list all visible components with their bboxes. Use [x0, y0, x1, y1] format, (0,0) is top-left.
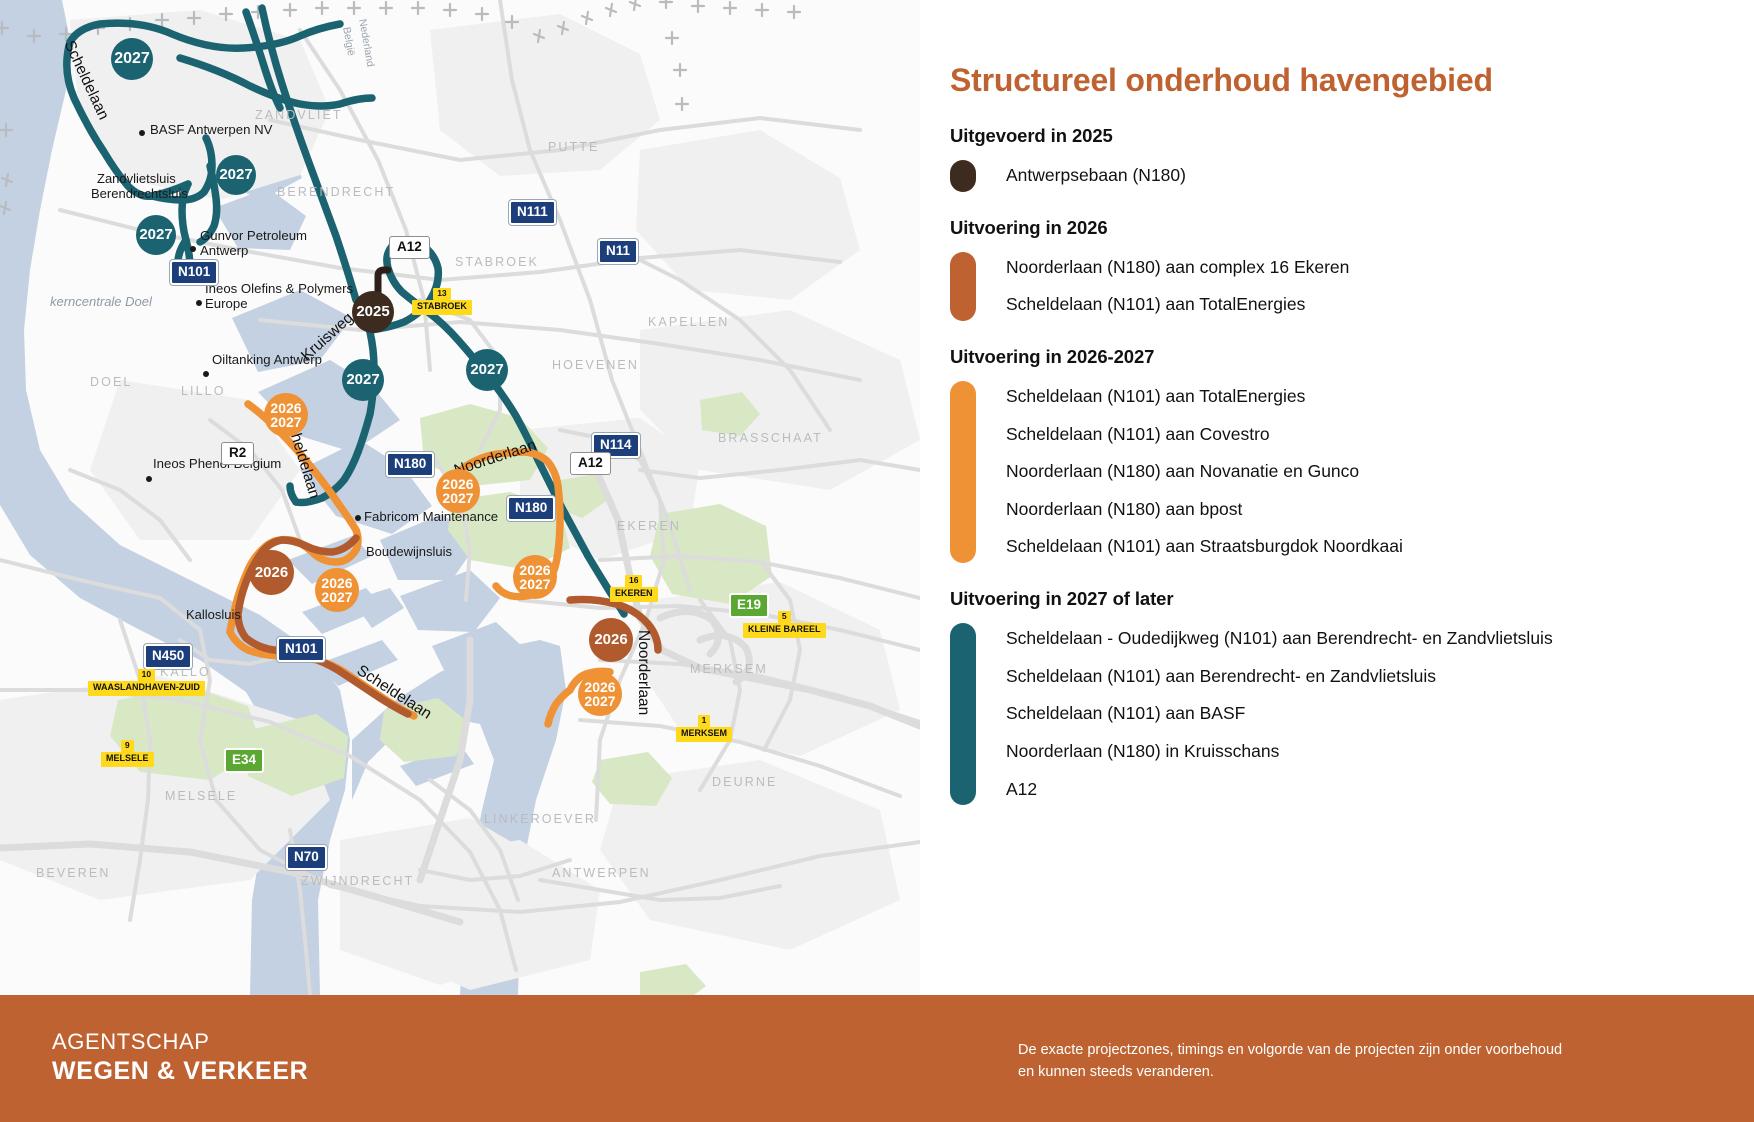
legend-item[interactable]: Scheldelaan (N101) aan BASF: [1006, 695, 1553, 733]
exit-name: MERKSEM: [676, 727, 732, 742]
map-year-marker-line: 2027: [584, 694, 615, 708]
legend-title: Structureel onderhoud havengebied: [950, 62, 1754, 99]
exit-name: EKEREN: [610, 587, 658, 602]
legend-item-list: Scheldelaan (N101) aan TotalEnergiesSche…: [976, 378, 1403, 566]
map-year-marker[interactable]: 20262027: [315, 568, 359, 612]
legend-item[interactable]: Scheldelaan (N101) aan TotalEnergies: [1006, 378, 1403, 416]
legend-group-heading: Uitvoering in 2027 of later: [950, 588, 1754, 610]
disclaimer-line-2: en kunnen steeds veranderen.: [1018, 1061, 1562, 1083]
footer-bar: AGENTSCHAP WEGEN & VERKEER De exacte pro…: [0, 995, 1754, 1122]
legend-item[interactable]: Noorderlaan (N180) in Kruisschans: [1006, 733, 1553, 771]
map-year-marker[interactable]: 20262027: [513, 555, 557, 599]
legend-item[interactable]: A12: [1006, 771, 1553, 809]
map-year-marker[interactable]: 2026: [249, 550, 294, 595]
map-year-marker[interactable]: 2026: [589, 618, 633, 662]
map-year-marker-line: 2027: [470, 362, 503, 377]
legend-item-list: Noorderlaan (N180) aan complex 16 Ekeren…: [976, 249, 1349, 324]
map-year-marker[interactable]: 20262027: [436, 469, 480, 513]
map-year-marker-line: 2026: [442, 477, 473, 491]
legend-item[interactable]: Noorderlaan (N180) aan bpost: [1006, 491, 1403, 529]
road-shield-a12: A12: [389, 236, 430, 259]
road-shield-n70: N70: [286, 845, 327, 870]
legend-item[interactable]: Scheldelaan - Oudedijkweg (N101) aan Ber…: [1006, 620, 1553, 658]
logo-line-1: AGENTSCHAP: [52, 1028, 308, 1056]
motorway-exit-badge: 9MELSELE: [101, 735, 154, 767]
road-shield-e34: E34: [224, 748, 264, 773]
motorway-exit-badge: 5KLEINE BAREEL: [743, 606, 826, 638]
logo-line-2: WEGEN & VERKEER: [52, 1056, 308, 1087]
map-year-marker-line: 2027: [270, 415, 301, 429]
exit-name: MELSELE: [101, 752, 154, 767]
map-year-marker-line: 2027: [114, 51, 150, 67]
motorway-exit-badge: 10WAASLANDHAVEN-ZUID: [88, 664, 205, 696]
legend-item[interactable]: Scheldelaan (N101) aan TotalEnergies: [1006, 286, 1349, 324]
legend-item[interactable]: Noorderlaan (N180) aan complex 16 Ekeren: [1006, 249, 1349, 287]
exit-name: WAASLANDHAVEN-ZUID: [88, 681, 205, 696]
map-year-marker-line: 2025: [356, 304, 389, 319]
map-year-marker[interactable]: 2027: [342, 359, 384, 401]
legend-item-list: Antwerpsebaan (N180): [976, 157, 1186, 195]
exit-number: 9: [121, 740, 134, 752]
motorway-exit-badge: 13STABROEK: [412, 283, 472, 315]
road-shield-n101: N101: [170, 260, 218, 285]
disclaimer-text: De exacte projectzones, timings en volgo…: [1018, 1039, 1562, 1084]
motorway-exit-badge: 16EKEREN: [610, 570, 658, 602]
map-poi-dot-icon: [139, 130, 145, 136]
road-shield-r2: R2: [221, 442, 254, 465]
road-shield-n180: N180: [386, 452, 434, 477]
map-year-marker-line: 2026: [594, 632, 627, 647]
legend-color-swatch: [950, 623, 976, 805]
exit-number: 10: [138, 669, 155, 681]
road-shield-n180: N180: [507, 496, 555, 521]
legend-group: Uitvoering in 2027 of laterScheldelaan -…: [950, 588, 1754, 808]
legend-group-body: Scheldelaan (N101) aan TotalEnergiesSche…: [950, 378, 1754, 566]
legend-group: Uitvoering in 2026Noorderlaan (N180) aan…: [950, 217, 1754, 324]
map-year-marker-line: 2026: [255, 565, 288, 580]
exit-name: KLEINE BAREEL: [743, 623, 826, 638]
exit-number: 5: [778, 611, 791, 623]
legend-groups: Uitgevoerd in 2025Antwerpsebaan (N180)Ui…: [950, 125, 1754, 808]
map-year-marker[interactable]: 20262027: [264, 393, 308, 437]
disclaimer-line-1: De exacte projectzones, timings en volgo…: [1018, 1039, 1562, 1061]
map-poi-dot-icon: [146, 476, 152, 482]
map-street-label: Noorderlaan: [634, 630, 652, 715]
legend-group-body: Scheldelaan - Oudedijkweg (N101) aan Ber…: [950, 620, 1754, 808]
legend-group: Uitvoering in 2026-2027Scheldelaan (N101…: [950, 346, 1754, 566]
map-year-marker-line: 2027: [321, 590, 352, 604]
map-year-marker-line: 2026: [270, 401, 301, 415]
map-year-marker[interactable]: 2025: [352, 291, 394, 333]
map-poi-dot-icon: [190, 246, 196, 252]
map-year-marker-line: 2027: [219, 167, 252, 182]
legend-item[interactable]: Scheldelaan (N101) aan Berendrecht- en Z…: [1006, 658, 1553, 696]
legend-group: Uitgevoerd in 2025Antwerpsebaan (N180): [950, 125, 1754, 195]
exit-name: STABROEK: [412, 300, 472, 315]
map-year-marker-line: 2026: [584, 680, 615, 694]
road-shield-n11: N11: [598, 239, 638, 264]
legend-panel: Structureel onderhoud havengebied Uitgev…: [920, 0, 1754, 995]
legend-item[interactable]: Antwerpsebaan (N180): [1006, 157, 1186, 195]
legend-group-heading: Uitgevoerd in 2025: [950, 125, 1754, 147]
agency-logo: AGENTSCHAP WEGEN & VERKEER: [52, 1028, 308, 1087]
legend-item-list: Scheldelaan - Oudedijkweg (N101) aan Ber…: [976, 620, 1553, 808]
legend-group-heading: Uitvoering in 2026-2027: [950, 346, 1754, 368]
map-year-marker-line: 2026: [519, 563, 550, 577]
exit-number: 13: [433, 288, 450, 300]
road-shield-n101: N101: [277, 637, 325, 662]
legend-color-swatch: [950, 381, 976, 563]
exit-number: 16: [625, 575, 642, 587]
map-year-marker[interactable]: 2027: [111, 38, 153, 80]
map-panel[interactable]: ZANDVLIETPUTTEBERENDRECHTSTABROEKKAPELLE…: [0, 0, 920, 995]
map-poi-dot-icon: [196, 300, 202, 306]
map-year-marker-line: 2026: [321, 576, 352, 590]
map-year-marker-line: 2027: [139, 227, 172, 242]
map-poi-dot-icon: [355, 515, 361, 521]
map-year-marker[interactable]: 2027: [216, 155, 256, 195]
motorway-exit-badge: 1MERKSEM: [676, 710, 732, 742]
legend-item[interactable]: Noorderlaan (N180) aan Novanatie en Gunc…: [1006, 453, 1403, 491]
map-year-marker[interactable]: 2027: [466, 349, 508, 391]
map-year-marker[interactable]: 2027: [136, 215, 176, 255]
map-year-marker-line: 2027: [442, 491, 473, 505]
legend-color-swatch: [950, 160, 976, 192]
legend-group-heading: Uitvoering in 2026: [950, 217, 1754, 239]
map-year-marker-line: 2027: [519, 577, 550, 591]
infographic-root: ZANDVLIETPUTTEBERENDRECHTSTABROEKKAPELLE…: [0, 0, 1754, 1122]
map-poi-dot-icon: [203, 371, 209, 377]
road-shield-n111: N111: [509, 200, 556, 225]
legend-group-body: Antwerpsebaan (N180): [950, 157, 1754, 195]
legend-color-swatch: [950, 252, 976, 321]
exit-number: 1: [698, 715, 711, 727]
map-year-marker-line: 2027: [346, 372, 379, 387]
legend-item[interactable]: Scheldelaan (N101) aan Straatsburgdok No…: [1006, 528, 1403, 566]
map-year-marker[interactable]: 20262027: [578, 672, 622, 716]
legend-group-body: Noorderlaan (N180) aan complex 16 Ekeren…: [950, 249, 1754, 324]
legend-item[interactable]: Scheldelaan (N101) aan Covestro: [1006, 416, 1403, 454]
road-shield-a12: A12: [570, 452, 611, 475]
